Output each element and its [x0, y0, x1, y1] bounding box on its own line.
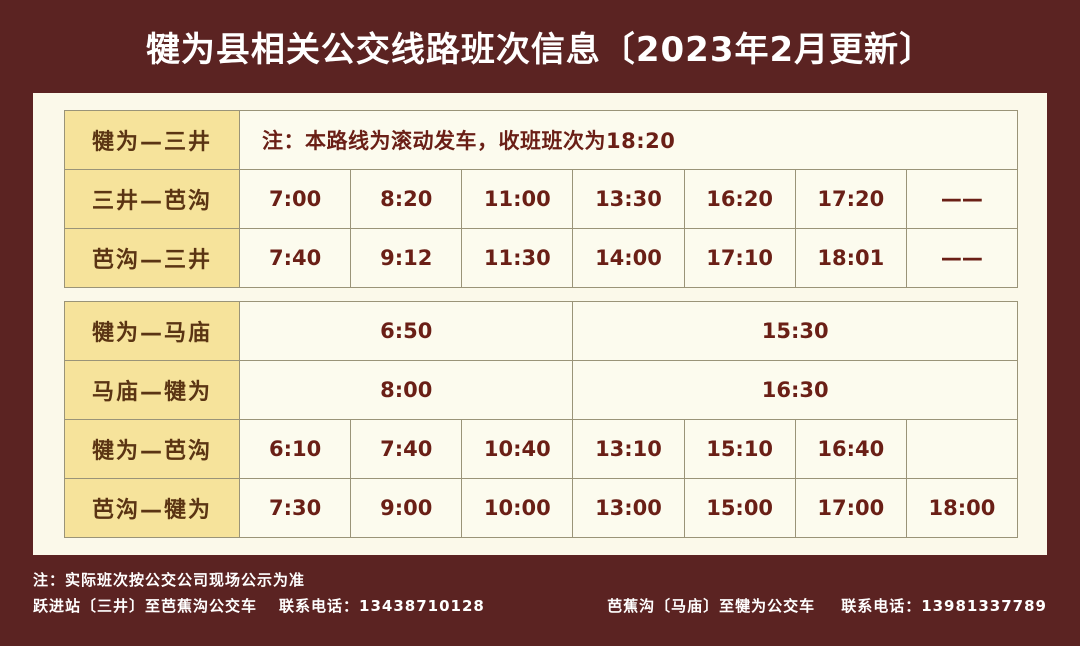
- schedule-panel: 犍为—三井 注：本路线为滚动发车，收班班次为18:20 三井—芭沟 7:00 8…: [33, 93, 1047, 555]
- departure-time: 6:10: [240, 420, 351, 479]
- departure-time: 18:01: [795, 229, 906, 288]
- table-gap: [64, 288, 1016, 301]
- departure-time: 9:12: [351, 229, 462, 288]
- departure-time: 16:30: [573, 361, 1018, 420]
- departure-time: 16:40: [795, 420, 906, 479]
- table-row: 马庙—犍为 8:00 16:30: [65, 361, 1018, 420]
- departure-time: 9:00: [351, 479, 462, 538]
- departure-time: 13:30: [573, 170, 684, 229]
- departure-time: 15:00: [684, 479, 795, 538]
- route-label: 芭沟—犍为: [65, 479, 240, 538]
- footer: 注：实际班次按公交公司现场公示为准 跃进站〔三井〕至芭蕉沟公交车 联系电话：13…: [0, 555, 1080, 646]
- departure-time: 6:50: [240, 302, 573, 361]
- departure-time: 13:10: [573, 420, 684, 479]
- route-note: 注：本路线为滚动发车，收班班次为18:20: [240, 111, 1018, 170]
- departure-time: 10:40: [462, 420, 573, 479]
- footer-right-route: 芭蕉沟〔马庙〕至犍为公交车: [607, 595, 815, 616]
- route-label: 犍为—马庙: [65, 302, 240, 361]
- departure-time: 7:00: [240, 170, 351, 229]
- table-row: 芭沟—三井 7:40 9:12 11:30 14:00 17:10 18:01 …: [65, 229, 1018, 288]
- departure-time-empty: ——: [906, 170, 1017, 229]
- route-label: 三井—芭沟: [65, 170, 240, 229]
- departure-time: 15:30: [573, 302, 1018, 361]
- departure-time: 11:00: [462, 170, 573, 229]
- table-row: 犍为—三井 注：本路线为滚动发车，收班班次为18:20: [65, 111, 1018, 170]
- page-title: 犍为县相关公交线路班次信息〔2023年2月更新〕: [146, 22, 934, 71]
- departure-time: 7:40: [351, 420, 462, 479]
- departure-time: 16:20: [684, 170, 795, 229]
- route-label: 马庙—犍为: [65, 361, 240, 420]
- footer-left-phone: 联系电话：13438710128: [279, 595, 485, 616]
- route-label: 犍为—三井: [65, 111, 240, 170]
- departure-time: 15:10: [684, 420, 795, 479]
- table-row: 芭沟—犍为 7:30 9:00 10:00 13:00 15:00 17:00 …: [65, 479, 1018, 538]
- departure-time: 17:10: [684, 229, 795, 288]
- route-label: 芭沟—三井: [65, 229, 240, 288]
- departure-time: 10:00: [462, 479, 573, 538]
- departure-time: 7:30: [240, 479, 351, 538]
- departure-time: 8:00: [240, 361, 573, 420]
- footer-left-route: 跃进站〔三井〕至芭蕉沟公交车: [33, 595, 257, 616]
- footer-note: 注：实际班次按公交公司现场公示为准: [33, 569, 305, 590]
- footer-right-phone: 联系电话：13981337789: [841, 595, 1047, 616]
- departure-time-empty: [906, 420, 1017, 479]
- table-row: 犍为—芭沟 6:10 7:40 10:40 13:10 15:10 16:40: [65, 420, 1018, 479]
- table-row: 犍为—马庙 6:50 15:30: [65, 302, 1018, 361]
- schedule-table-sanjing: 犍为—三井 注：本路线为滚动发车，收班班次为18:20 三井—芭沟 7:00 8…: [64, 110, 1018, 288]
- footer-contacts: 跃进站〔三井〕至芭蕉沟公交车 联系电话：13438710128 芭蕉沟〔马庙〕至…: [33, 595, 1047, 616]
- departure-time: 7:40: [240, 229, 351, 288]
- departure-time: 14:00: [573, 229, 684, 288]
- departure-time: 18:00: [906, 479, 1017, 538]
- departure-time: 8:20: [351, 170, 462, 229]
- departure-time: 13:00: [573, 479, 684, 538]
- page-title-bar: 犍为县相关公交线路班次信息〔2023年2月更新〕: [0, 0, 1080, 93]
- departure-time: 17:00: [795, 479, 906, 538]
- table-row: 三井—芭沟 7:00 8:20 11:00 13:30 16:20 17:20 …: [65, 170, 1018, 229]
- departure-time: 11:30: [462, 229, 573, 288]
- departure-time: 17:20: [795, 170, 906, 229]
- schedule-table-mamiao-bagou: 犍为—马庙 6:50 15:30 马庙—犍为 8:00 16:30 犍为—芭沟 …: [64, 301, 1018, 538]
- departure-time-empty: ——: [906, 229, 1017, 288]
- route-label: 犍为—芭沟: [65, 420, 240, 479]
